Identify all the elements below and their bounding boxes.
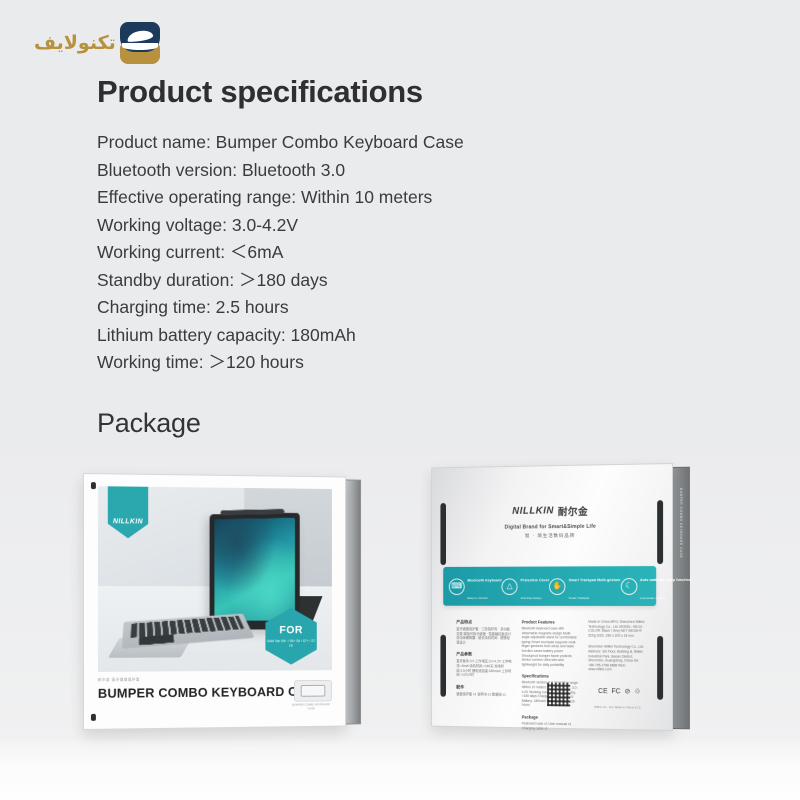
spec-line: Product name: Bumper Combo Keyboard Case	[97, 129, 657, 157]
feature-item: ✋ Smart Trackpad Multi-gesture Smart Tra…	[549, 568, 620, 604]
hand-touch-icon: ✋	[549, 578, 565, 595]
box-tab-icon	[657, 636, 663, 700]
feature-item: ☾ Auto wake-up sleep function Low power …	[620, 568, 691, 604]
stylus-icon	[221, 509, 285, 515]
spec-line: Lithium battery capacity: 180mAh	[97, 322, 657, 350]
spec-block-lines: Keyboard case x1 User manual x1 Charging…	[522, 721, 579, 731]
feature-subtitle: Smart Trackpad	[569, 596, 589, 600]
feature-item: △ Protective Cover Anti-drop design	[502, 568, 550, 603]
technolife-logo-icon	[120, 22, 160, 64]
technolife-logo: تکنولایف	[34, 22, 160, 64]
product-thumbnail-caption: BUMPER COMBO KEYBOARD CASE	[292, 703, 330, 710]
spec-line: Bluetooth version: Bluetooth 3.0	[97, 157, 657, 185]
trackpad	[139, 634, 174, 645]
certification-marks: CE FC ⊘ ♲	[598, 687, 640, 695]
back-box-fine-print: Nillkin Co., Ltd. Made in China V1.0	[594, 705, 640, 710]
spec-block-lines: 蓝牙键盘保护套 · 三防保护壳 · 多功能支架 磁吸可拆分键盘 · 智能触控板设…	[456, 627, 512, 645]
ce-mark-icon: CE	[598, 688, 607, 695]
spec-block: 产品特点 蓝牙键盘保护套 · 三防保护壳 · 多功能支架 磁吸可拆分键盘 · 智…	[456, 619, 512, 645]
box-tab-icon	[440, 635, 446, 697]
spec-line: Working voltage: 3.0-4.2V	[97, 212, 657, 240]
feature-title: Protective Cover	[521, 578, 550, 582]
package-box-back: BUMPER COMBO KEYBOARD CASE NILLKIN 耐尔金 D…	[431, 463, 673, 731]
fcc-mark-icon: FC	[611, 688, 620, 695]
rohs-mark-icon: ⊘	[625, 687, 631, 695]
spec-block: Made in China MFG: Shenzhen Nillkin Tech…	[588, 620, 646, 638]
nillkin-wordmark-cn: 耐尔金	[558, 503, 588, 518]
for-badge-models: SAM Tab S8+ / S8+ S6 / S7+ / S7 FE	[265, 639, 316, 648]
keyboard-icon: ⌨	[449, 578, 465, 595]
spec-block: 配件 键盘保护套 x1 说明书 x1 数据线 x1	[456, 684, 512, 697]
back-box-brand-row: NILLKIN 耐尔金	[456, 502, 646, 519]
spec-block-heading: Specifications	[522, 674, 579, 680]
box-tab-icon	[91, 714, 96, 721]
box-tab-icon	[440, 503, 446, 565]
feature-title: Auto wake-up sleep function	[640, 578, 691, 582]
spec-block: 产品参数 蓝牙版本:3.0 工作电压:3.0-4.2V 工作电流:<6mA 待机…	[456, 652, 512, 678]
tablet-screen	[214, 518, 295, 622]
box-tab-icon	[91, 482, 96, 489]
spec-block-lines: Made in China MFG: Shenzhen Nillkin Tech…	[588, 620, 646, 638]
nillkin-shield-text: NILLKIN	[113, 518, 143, 525]
feature-title: Smart Trackpad Multi-gesture	[569, 578, 621, 582]
product-thumbnail-icon	[294, 680, 332, 702]
spec-block-lines: Bluetooth keyboard case with detachable …	[522, 626, 579, 667]
spec-line: Standby duration: ＞180 days	[97, 267, 657, 295]
spec-line: Effective operating range: Within 10 met…	[97, 184, 657, 212]
back-box-tagline: Digital Brand for Smart&Simple Life	[456, 523, 646, 531]
back-box-spine-text: BUMPER COMBO KEYBOARD CASE	[679, 488, 683, 558]
spec-block: Shenzhen Nillkin Technology Co., Ltd. Ad…	[588, 645, 646, 673]
nillkin-shield-logo: NILLKIN	[108, 486, 148, 538]
box-tab-icon	[657, 500, 663, 564]
photo-floor	[0, 740, 800, 800]
feature-subtitle: Easy to connect	[468, 596, 488, 600]
spec-block-lines: 蓝牙版本:3.0 工作电压:3.0-4.2V 工作电流:<6mA 待机时间:>1…	[456, 659, 512, 677]
package-photo: BUMPER COMBO KEYBOARD CASE NILLKIN 耐尔金 D…	[0, 455, 800, 800]
spec-block-heading: 产品参数	[456, 652, 512, 658]
spec-column: Made in China MFG: Shenzhen Nillkin Tech…	[588, 620, 646, 718]
nillkin-wordmark: NILLKIN	[512, 506, 554, 517]
shield-icon: △	[502, 578, 518, 595]
spec-block-heading: Product Features	[522, 620, 579, 625]
technolife-logo-text: تکنولایف	[34, 32, 116, 54]
spec-block-heading: Package	[522, 714, 579, 720]
specifications-list: Product name: Bumper Combo Keyboard Case…	[97, 129, 657, 377]
qr-code-icon	[547, 683, 570, 707]
for-badge-label: FOR	[279, 624, 303, 636]
spec-block: Package Keyboard case x1 User manual x1 …	[522, 714, 579, 731]
front-box-caption: 耐尔金 蓝牙键盘保护套 BUMPER COMBO KEYBOARD CASE B…	[98, 676, 332, 719]
spec-block: Product Features Bluetooth keyboard case…	[522, 620, 579, 668]
feature-title: Bluetooth Keyboard	[468, 578, 502, 582]
spec-block-lines: 键盘保护套 x1 说明书 x1 数据线 x1	[456, 692, 512, 697]
page-title-specifications: Product specifications	[97, 74, 423, 110]
section-title-package: Package	[97, 408, 201, 439]
spec-block-heading: 产品特点	[456, 619, 512, 625]
spec-block-lines: Shenzhen Nillkin Technology Co., Ltd. Ad…	[588, 645, 646, 673]
moon-icon: ☾	[620, 578, 637, 595]
feature-item: ⌨ Bluetooth Keyboard Easy to connect	[449, 569, 502, 604]
spec-block-heading: 配件	[456, 684, 512, 691]
spec-line: Working time: ＞120 hours	[97, 349, 657, 377]
front-box-spine	[345, 479, 361, 724]
front-box-face: NILLKIN FOR SAM Tab S8+ / S8+ S6 / S7+ /…	[83, 473, 346, 730]
package-box-front: NILLKIN FOR SAM Tab S8+ / S8+ S6 / S7+ /…	[83, 473, 346, 730]
back-box-tagline-cn: 智 · 简生活数码品牌	[456, 532, 646, 540]
back-box-face: NILLKIN 耐尔金 Digital Brand for Smart&Simp…	[431, 463, 673, 731]
front-box-product-photo: NILLKIN FOR SAM Tab S8+ / S8+ S6 / S7+ /…	[98, 486, 332, 672]
spec-line: Charging time: 2.5 hours	[97, 294, 657, 322]
feature-subtitle: Anti-drop design	[521, 596, 542, 600]
recycle-mark-icon: ♲	[634, 688, 640, 696]
spec-column: 产品特点 蓝牙键盘保护套 · 三防保护壳 · 多功能支架 磁吸可拆分键盘 · 智…	[456, 619, 512, 715]
spec-line: Working current: ＜6mA	[97, 239, 657, 267]
feature-subtitle: Low power standby	[640, 596, 666, 600]
feature-bar: ⌨ Bluetooth Keyboard Easy to connect △ P…	[443, 566, 656, 606]
